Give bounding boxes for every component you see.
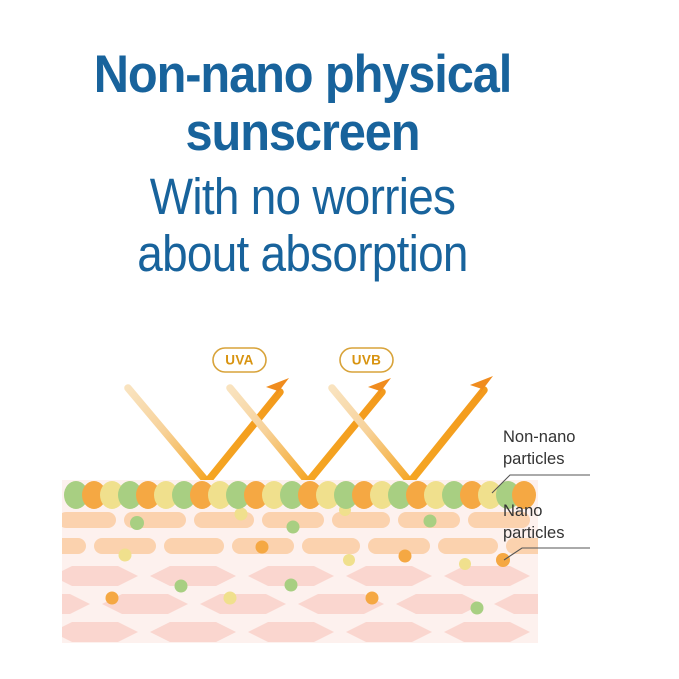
uv-ray-incoming-1 [128, 388, 207, 482]
nano-particle [366, 592, 379, 605]
nano-particle [235, 508, 248, 521]
uvb-badge[interactable]: UVB [340, 348, 393, 372]
nano-particle [343, 554, 355, 566]
nano-particle [471, 602, 484, 615]
sunscreen-skin-diagram: UVA UVB [0, 330, 679, 679]
nano-particle [459, 558, 471, 570]
callout-nano-line-1: Nano [503, 502, 542, 520]
nano-particle [119, 549, 132, 562]
nano-particle [224, 592, 237, 605]
headline-block: Non-nano physical sunscreen With no worr… [0, 46, 679, 282]
callout-nano-line-2: particles [503, 524, 564, 542]
nano-particle [287, 521, 300, 534]
nano-particle [175, 580, 188, 593]
nano-particle [106, 592, 119, 605]
nano-particle [399, 550, 412, 563]
callout-non-nano-line-2: particles [503, 450, 564, 468]
nano-particle [256, 541, 269, 554]
uva-badge-label: UVA [225, 353, 253, 368]
uv-ray-outgoing-3 [410, 390, 484, 482]
callout-non-nano-line-1: Non-nano [503, 428, 575, 446]
page-subtitle-line-1: With no worries [30, 168, 575, 225]
nano-particle [130, 516, 144, 530]
infographic-canvas: Non-nano physical sunscreen With no worr… [0, 0, 679, 679]
page-subtitle-line-2: about absorption [30, 225, 575, 282]
page-title-line-2: sunscreen [24, 104, 581, 162]
nano-particle [285, 579, 298, 592]
uvb-badge-label: UVB [352, 353, 381, 368]
nano-particle [424, 515, 437, 528]
nano-particle-labeled [496, 553, 510, 567]
uva-badge[interactable]: UVA [213, 348, 266, 372]
page-title-line-1: Non-nano physical [24, 46, 581, 104]
non-nano-particle-row [64, 481, 536, 509]
